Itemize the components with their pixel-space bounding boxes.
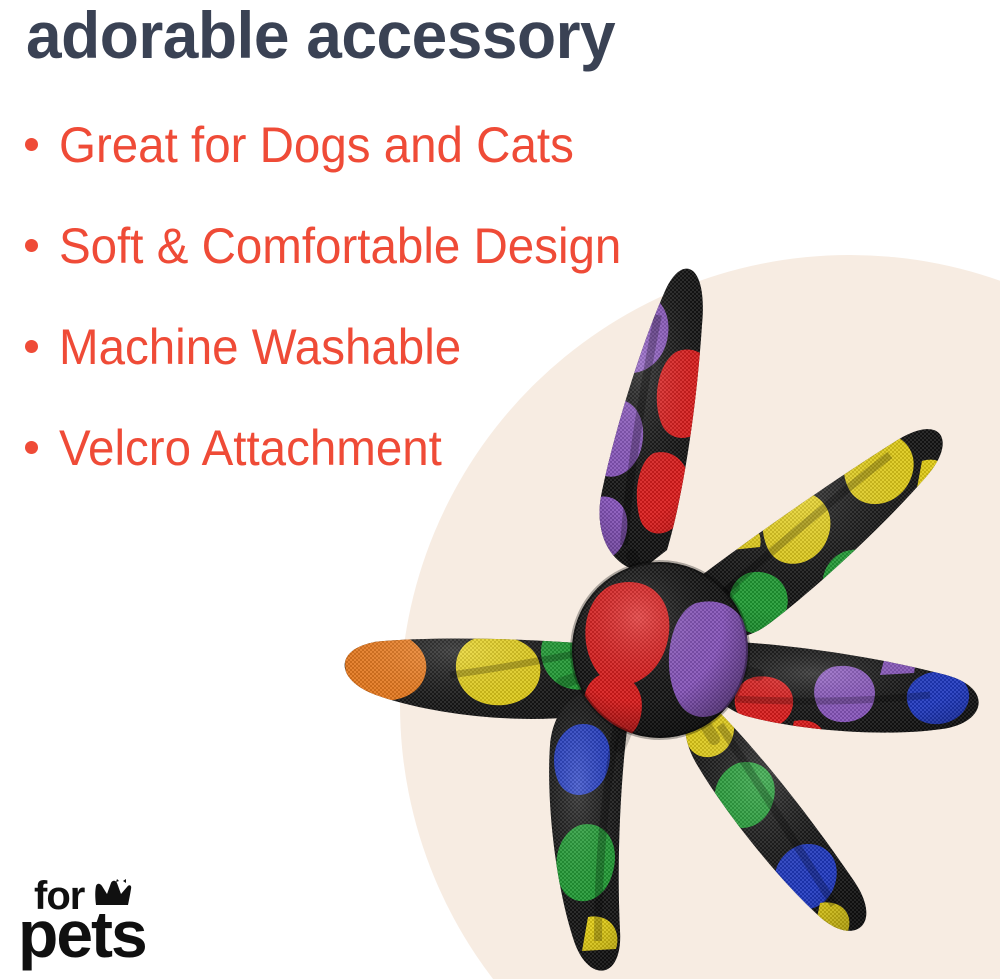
- bullet-dot-icon: [25, 441, 38, 454]
- product-feature-image: adorable accessory Great for Dogs and Ca…: [0, 0, 1000, 979]
- feature-label: Great for Dogs and Cats: [59, 120, 574, 170]
- bullet-dot-icon: [25, 138, 38, 151]
- brand-logo: for pets: [18, 879, 146, 961]
- list-item: Velcro Attachment: [18, 397, 651, 498]
- bullet-dot-icon: [25, 340, 38, 353]
- list-item: Soft & Comfortable Design: [18, 195, 651, 296]
- list-item: Machine Washable: [18, 296, 651, 397]
- feature-label: Velcro Attachment: [59, 423, 442, 473]
- feature-label: Soft & Comfortable Design: [59, 221, 621, 271]
- feature-list: Great for Dogs and Cats Soft & Comfortab…: [18, 94, 651, 498]
- brand-name-line2: pets: [18, 907, 146, 961]
- list-item: Great for Dogs and Cats: [18, 94, 651, 195]
- bullet-dot-icon: [25, 239, 38, 252]
- page-title: adorable accessory: [26, 2, 615, 68]
- feature-label: Machine Washable: [59, 322, 461, 372]
